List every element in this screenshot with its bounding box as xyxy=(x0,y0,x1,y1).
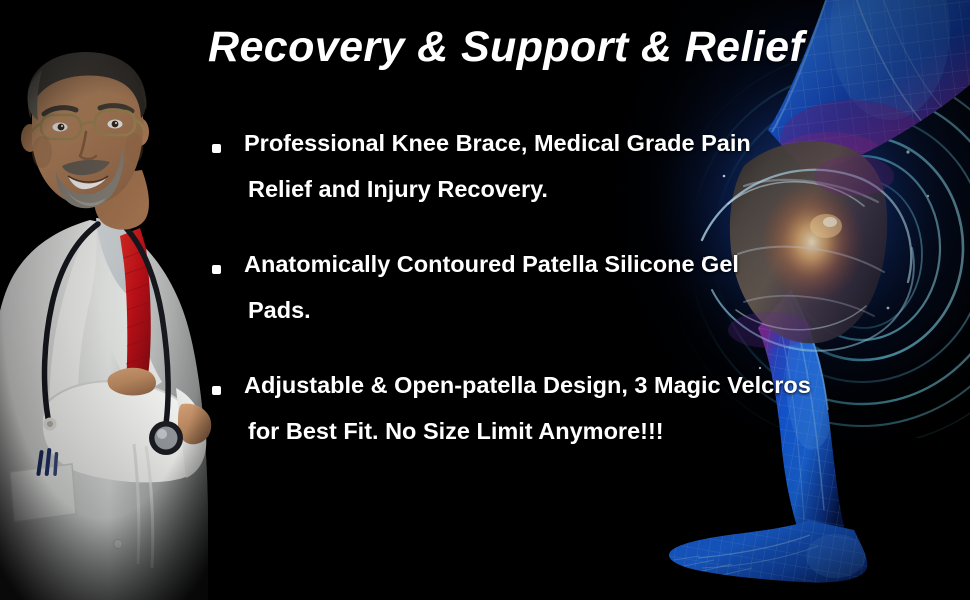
list-item: Professional Knee Brace, Medical Grade P… xyxy=(212,132,822,201)
page-title: Recovery & Support & Relief xyxy=(208,24,818,71)
feature-text-line1: Professional Knee Brace, Medical Grade P… xyxy=(212,132,822,156)
feature-list: Professional Knee Brace, Medical Grade P… xyxy=(212,132,822,443)
square-bullet-icon xyxy=(212,144,221,153)
feature-text-line2: for Best Fit. No Size Limit Anymore!!! xyxy=(212,420,822,444)
square-bullet-icon xyxy=(212,265,221,274)
product-banner: Recovery & Support & Relief Professional… xyxy=(0,0,970,600)
feature-text-line1: Anatomically Contoured Patella Silicone … xyxy=(212,253,822,277)
feature-text-line2: Pads. xyxy=(212,299,822,323)
feature-text-line1: Adjustable & Open-patella Design, 3 Magi… xyxy=(212,374,822,398)
square-bullet-icon xyxy=(212,386,221,395)
feature-text-line2: Relief and Injury Recovery. xyxy=(212,178,822,202)
list-item: Adjustable & Open-patella Design, 3 Magi… xyxy=(212,374,822,443)
list-item: Anatomically Contoured Patella Silicone … xyxy=(212,253,822,322)
